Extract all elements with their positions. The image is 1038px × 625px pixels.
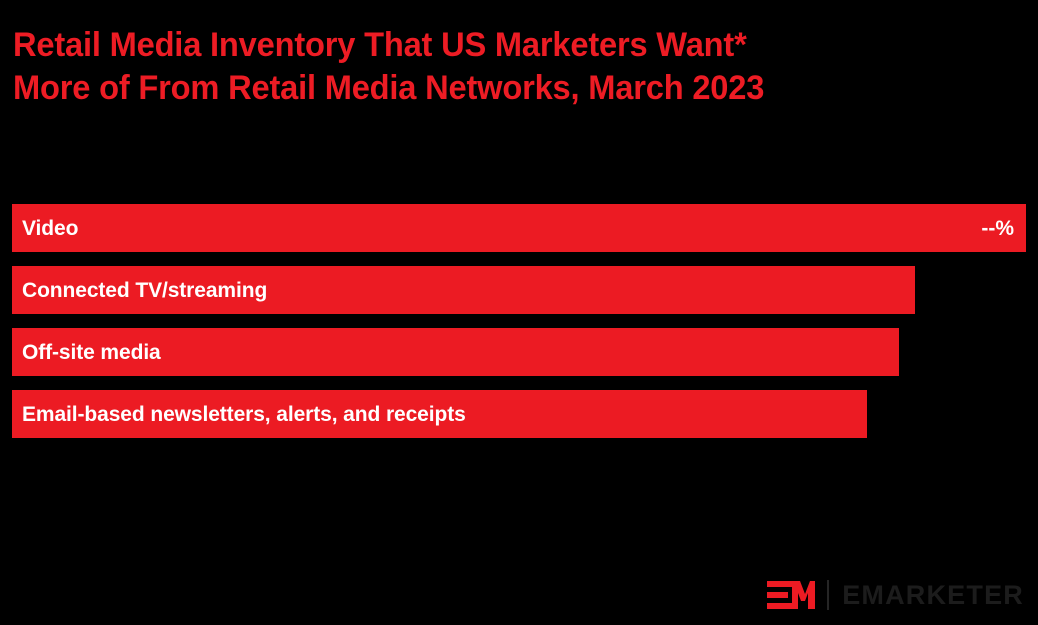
logo-divider xyxy=(827,580,829,610)
bar-row: Email-based newsletters, alerts, and rec… xyxy=(12,390,1026,438)
bar-video[interactable]: Video --% xyxy=(12,204,1026,252)
page-title: Retail Media Inventory That US Marketers… xyxy=(13,24,983,110)
chart-root: Retail Media Inventory That US Marketers… xyxy=(0,0,1038,625)
bar-value: --% xyxy=(981,218,1014,239)
bar-off-site-media[interactable]: Off-site media xyxy=(12,328,899,376)
bar-row: Video --% xyxy=(12,204,1026,252)
bar-chart-plot: Video --% Connected TV/streaming Off-sit… xyxy=(12,204,1026,438)
bar-row: Connected TV/streaming xyxy=(12,266,1026,314)
em-monogram-icon xyxy=(767,580,815,610)
bar-row: Off-site media xyxy=(12,328,1026,376)
bar-label: Video xyxy=(22,218,78,239)
logo-wordmark: EMARKETER xyxy=(842,582,1024,609)
emarketer-logo: EMARKETER xyxy=(767,577,1024,613)
bar-label: Connected TV/streaming xyxy=(22,280,267,301)
bar-label: Email-based newsletters, alerts, and rec… xyxy=(22,404,466,425)
bar-connected-tv-streaming[interactable]: Connected TV/streaming xyxy=(12,266,915,314)
bar-email-based-newsletters[interactable]: Email-based newsletters, alerts, and rec… xyxy=(12,390,867,438)
bar-label: Off-site media xyxy=(22,342,161,363)
